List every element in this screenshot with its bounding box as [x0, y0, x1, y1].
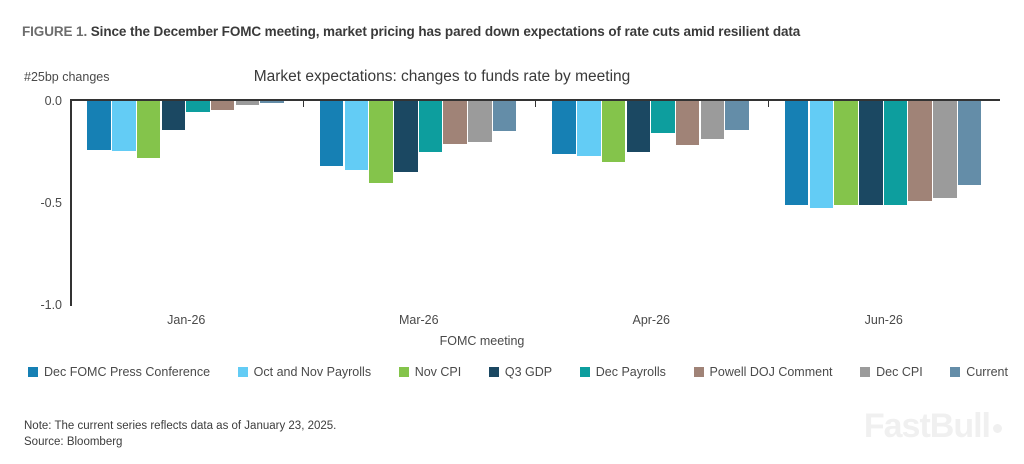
figure-number: FIGURE 1. [22, 24, 87, 39]
bar [577, 101, 601, 156]
bar [87, 101, 111, 150]
watermark-dot-icon [993, 424, 1002, 433]
legend-label: Nov CPI [415, 365, 462, 379]
legend-swatch-icon [950, 367, 960, 377]
bar [908, 101, 932, 201]
bar [211, 101, 235, 110]
bar [112, 101, 136, 151]
bar [602, 101, 626, 162]
legend-item[interactable]: Oct and Nov Payrolls [238, 365, 371, 379]
legend-swatch-icon [238, 367, 248, 377]
watermark-logo: FastBull [864, 407, 1002, 446]
legend-label: Powell DOJ Comment [710, 365, 833, 379]
bar [810, 101, 834, 208]
bar [884, 101, 908, 205]
legend-label: Dec CPI [876, 365, 923, 379]
bar [552, 101, 576, 154]
x-tick-label: Jun-26 [768, 313, 1001, 327]
source-text: Source: Bloomberg [24, 434, 336, 450]
legend-swatch-icon [489, 367, 499, 377]
legend-swatch-icon [860, 367, 870, 377]
bar [493, 101, 517, 131]
bar [958, 101, 982, 185]
plot-area [70, 101, 1000, 305]
bar [701, 101, 725, 139]
x-tick-label: Mar-26 [303, 313, 536, 327]
figure-title-text: Since the December FOMC meeting, market … [91, 24, 800, 39]
note-text: Note: The current series reflects data a… [24, 418, 336, 434]
bar [859, 101, 883, 205]
bar [369, 101, 393, 183]
legend-label: Oct and Nov Payrolls [254, 365, 371, 379]
bar [443, 101, 467, 144]
bar [933, 101, 957, 198]
legend-item[interactable]: Current [950, 365, 1008, 379]
bar [137, 101, 161, 158]
bar [345, 101, 369, 170]
bar [468, 101, 492, 142]
bar [785, 101, 809, 205]
group-separator-tick [535, 101, 536, 107]
bar [676, 101, 700, 145]
legend-label: Q3 GDP [505, 365, 552, 379]
bar [394, 101, 418, 172]
bar [320, 101, 344, 166]
chart-legend: Dec FOMC Press ConferenceOct and Nov Pay… [28, 365, 1008, 379]
bar [725, 101, 749, 130]
legend-item[interactable]: Dec Payrolls [580, 365, 666, 379]
legend-swatch-icon [28, 367, 38, 377]
legend-label: Current [966, 365, 1008, 379]
legend-item[interactable]: Q3 GDP [489, 365, 552, 379]
legend-item[interactable]: Dec FOMC Press Conference [28, 365, 210, 379]
bar [627, 101, 651, 152]
x-tick-label: Apr-26 [535, 313, 768, 327]
bar [260, 101, 284, 103]
bar [834, 101, 858, 205]
legend-swatch-icon [580, 367, 590, 377]
figure-caption: FIGURE 1. Since the December FOMC meetin… [22, 24, 1002, 39]
group-separator-tick [303, 101, 304, 107]
x-tick-label: Jan-26 [70, 313, 303, 327]
legend-swatch-icon [694, 367, 704, 377]
bar [186, 101, 210, 112]
watermark-text: FastBull [864, 407, 990, 445]
legend-swatch-icon [399, 367, 409, 377]
chart-title: Market expectations: changes to funds ra… [0, 68, 1024, 86]
bar [162, 101, 186, 130]
x-axis-title: FOMC meeting [0, 334, 1024, 348]
bar [236, 101, 260, 105]
legend-item[interactable]: Powell DOJ Comment [694, 365, 833, 379]
bar [651, 101, 675, 133]
footnotes: Note: The current series reflects data a… [24, 418, 336, 450]
bar [419, 101, 443, 152]
group-separator-tick [768, 101, 769, 107]
legend-label: Dec FOMC Press Conference [44, 365, 210, 379]
legend-item[interactable]: Dec CPI [860, 365, 923, 379]
legend-label: Dec Payrolls [596, 365, 666, 379]
legend-item[interactable]: Nov CPI [399, 365, 462, 379]
